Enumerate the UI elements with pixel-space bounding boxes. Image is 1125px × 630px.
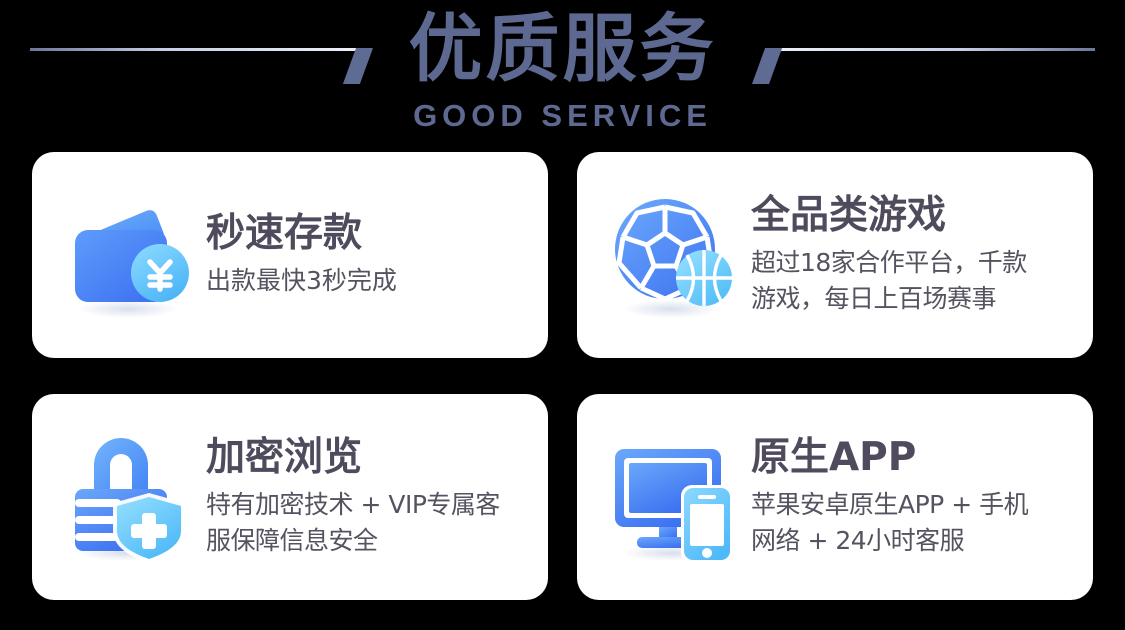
page-subtitle: GOOD SERVICE [0, 98, 1125, 134]
feature-card-native-app[interactable]: 原生APP 苹果安卓原生APP + 手机网络 + 24小时客服 [577, 394, 1093, 600]
card-title: 秒速存款 [206, 211, 534, 257]
lock-shield-icon [58, 427, 198, 567]
card-text-block: 秒速存款 出款最快3秒完成 [206, 211, 548, 299]
card-text-block: 全品类游戏 超过18家合作平台，千款游戏，每日上百场赛事 [751, 193, 1093, 317]
card-title: 加密浏览 [206, 435, 534, 481]
monitor-phone-icon [603, 427, 743, 567]
card-title: 全品类游戏 [751, 193, 1079, 239]
card-title: 原生APP [751, 435, 1079, 481]
card-text-block: 加密浏览 特有加密技术 + VIP专属客服保障信息安全 [206, 435, 548, 559]
card-text-block: 原生APP 苹果安卓原生APP + 手机网络 + 24小时客服 [751, 435, 1093, 559]
feature-card-encryption[interactable]: 加密浏览 特有加密技术 + VIP专属客服保障信息安全 [32, 394, 548, 600]
card-description: 出款最快3秒完成 [206, 263, 534, 299]
card-description: 超过18家合作平台，千款游戏，每日上百场赛事 [751, 245, 1079, 317]
feature-card-grid: 秒速存款 出款最快3秒完成 [32, 152, 1093, 600]
soccer-basketball-icon [603, 185, 743, 325]
page-header: 优质服务 GOOD SERVICE [0, 0, 1125, 145]
wallet-yen-icon [58, 185, 198, 325]
card-description: 特有加密技术 + VIP专属客服保障信息安全 [206, 487, 534, 559]
feature-card-games[interactable]: 全品类游戏 超过18家合作平台，千款游戏，每日上百场赛事 [577, 152, 1093, 358]
page-title: 优质服务 [0, 5, 1125, 93]
card-description: 苹果安卓原生APP + 手机网络 + 24小时客服 [751, 487, 1079, 559]
feature-card-deposit[interactable]: 秒速存款 出款最快3秒完成 [32, 152, 548, 358]
